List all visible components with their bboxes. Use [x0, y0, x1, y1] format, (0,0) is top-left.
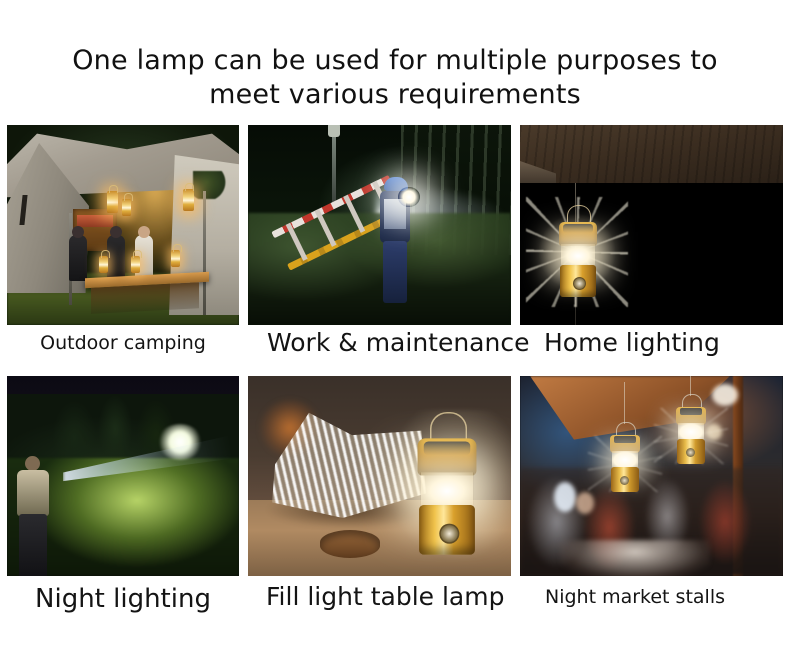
caption-home-lighting: Home lighting: [544, 328, 720, 357]
photo-fill-light-table-lamp[interactable]: [248, 376, 511, 576]
market-food-counter: [560, 540, 710, 576]
photo-night-lighting[interactable]: [7, 376, 239, 576]
caption-night-lighting: Night lighting: [7, 584, 239, 614]
bokeh-light-4: [712, 384, 738, 406]
worker-legs: [383, 241, 407, 303]
lantern-solar-top: [559, 222, 597, 246]
lantern-cord: [624, 382, 625, 424]
lantern-body: [677, 439, 705, 464]
desk-lantern: [416, 412, 478, 555]
camping-hanging-plant: [193, 171, 227, 199]
table-lantern-3: [171, 250, 180, 267]
wooden-round-box: [320, 530, 380, 558]
camping-pole-right: [203, 191, 206, 315]
page-title: One lamp can be used for multiple purpos…: [0, 44, 790, 112]
caption-outdoor-camping: Outdoor camping: [7, 332, 239, 354]
caption-fill-light-table-lamp: Fill light table lamp: [266, 582, 504, 611]
bokeh-light-1: [554, 482, 576, 512]
caption-work-maintenance: Work & maintenance: [267, 328, 529, 357]
table-lantern-1: [99, 256, 108, 273]
table-lantern-2: [131, 256, 140, 273]
market-lantern-left: [610, 422, 640, 492]
photo-home-lighting[interactable]: [520, 125, 783, 325]
photo-outdoor-camping[interactable]: [7, 125, 239, 325]
person-head: [25, 456, 40, 471]
page-title-line-2: meet various requirements: [0, 78, 790, 112]
lantern-body: [419, 505, 475, 555]
promo-page: One lamp can be used for multiple purpos…: [0, 0, 790, 646]
home-wooden-ceiling: [520, 125, 783, 185]
worker-headlamp-light: [398, 187, 420, 207]
person-legs: [19, 514, 47, 576]
person-with-flashlight: [13, 456, 53, 576]
bokeh-light-2: [576, 492, 594, 514]
home-lantern: [558, 205, 598, 297]
lantern-solar-top: [418, 438, 477, 475]
work-utility-pole: [332, 131, 336, 205]
lantern-body: [560, 265, 596, 297]
hanging-lantern-2: [122, 199, 131, 216]
photo-night-market-stalls[interactable]: [520, 376, 783, 576]
hanging-lantern-3: [183, 189, 194, 211]
lantern-cord: [690, 376, 691, 396]
camper-2: [107, 235, 125, 281]
caption-night-market-stalls: Night market stalls: [545, 586, 725, 608]
photo-work-maintenance[interactable]: [248, 125, 511, 325]
lantern-body: [611, 467, 639, 492]
page-title-line-1: One lamp can be used for multiple purpos…: [72, 45, 718, 76]
camper-1: [69, 235, 87, 281]
market-lantern-right: [676, 394, 706, 464]
hanging-lantern-1: [107, 191, 118, 213]
person-torso: [17, 470, 49, 516]
lantern-handle: [430, 412, 467, 441]
